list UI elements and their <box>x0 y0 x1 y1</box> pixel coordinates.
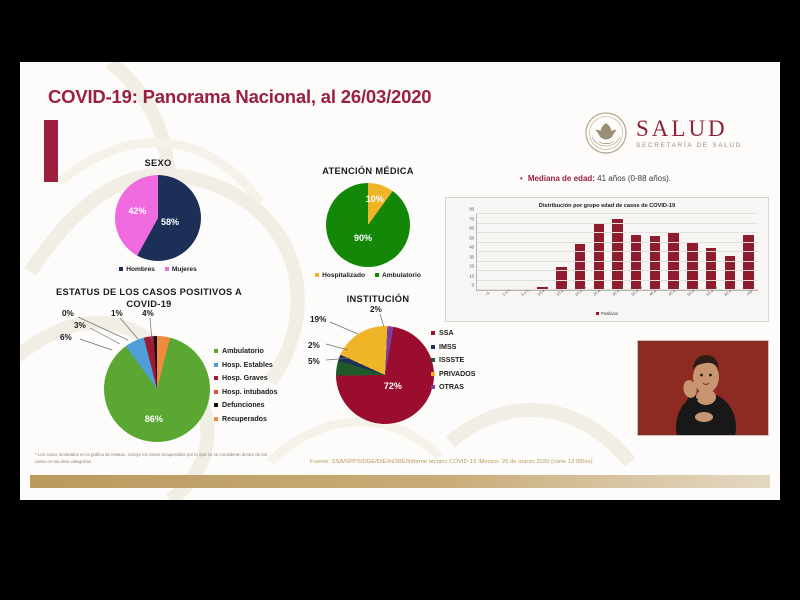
legend-label: Hombres <box>126 266 155 273</box>
legend-item: Ambulatorio <box>375 272 421 279</box>
legend-sexo: HombresMujeres <box>98 266 218 273</box>
legend-swatch <box>214 363 218 367</box>
y-axis-tick: 80 <box>469 207 474 212</box>
legend-item: Hosp. intubados <box>214 388 278 396</box>
legend-item: Mujeres <box>165 266 197 273</box>
legend-label: Hosp. Estables <box>222 361 273 369</box>
legend-label: Hospitalizado <box>322 272 365 279</box>
presentation-slide: COVID-19: Panorama Nacional, al 26/03/20… <box>20 62 780 500</box>
chart-title-institucion: INSTITUCIÓN <box>308 294 448 306</box>
chart-sexo: SEXO 58% 42% HombresMujeres <box>98 158 218 273</box>
x-axis-tick: <1 <box>484 290 491 297</box>
legend-swatch <box>315 273 319 277</box>
source-line: Fuente: SSA/SPPS/DGE/DIE/InDRE/Informe t… <box>310 459 593 465</box>
legend-swatch <box>431 372 435 376</box>
pie-outlabel-graves: 3% <box>74 321 86 330</box>
legend-label-positivos: Positivos <box>601 311 618 316</box>
legend-label: Ambulatorio <box>222 347 264 355</box>
legend-swatch <box>431 358 435 362</box>
legend-label: ISSSTE <box>439 356 464 364</box>
y-axis-tick: 40 <box>469 245 474 250</box>
chart-title-atencion: ATENCIÓN MÉDICA <box>298 166 438 178</box>
bar <box>687 242 697 290</box>
legend-atencion: HospitalizadoAmbulatorio <box>298 272 438 279</box>
pie-label-mujeres: 42% <box>128 206 146 216</box>
legend-swatch <box>214 349 218 353</box>
legend-swatch <box>214 403 218 407</box>
gridline: 80 <box>477 213 758 214</box>
gridline: 10 <box>477 280 758 281</box>
legend-edad: Positivos <box>446 311 768 316</box>
legend-label: Defunciones <box>222 401 265 409</box>
legend-swatch <box>214 376 218 380</box>
y-axis-tick: 30 <box>469 254 474 259</box>
bullet-icon: • <box>520 174 523 183</box>
pie-sexo: 58% 42% <box>115 175 201 261</box>
chart-title-estatus: ESTATUS DE LOS CASOS POSITIVOS A COVID-1… <box>54 287 244 310</box>
legend-label: Ambulatorio <box>382 272 421 279</box>
pie-outlabel-estables: 6% <box>60 333 72 342</box>
gridline: 50 <box>477 242 758 243</box>
legend-label: PRIVADOS <box>439 370 476 378</box>
y-axis-tick: 0 <box>472 283 474 288</box>
pie-outlabel-recuperados: 4% <box>142 309 154 318</box>
y-axis-tick: 20 <box>469 264 474 269</box>
y-axis-tick: 50 <box>469 235 474 240</box>
pie-label-ambulatorio: 90% <box>354 233 372 243</box>
y-axis-tick: 70 <box>469 216 474 221</box>
legend-item: OTRAS <box>431 383 476 391</box>
pie-estatus: 86% <box>104 336 210 442</box>
page-title: COVID-19: Panorama Nacional, al 26/03/20… <box>48 86 431 108</box>
chart-estatus: ESTATUS DE LOS CASOS POSITIVOS A COVID-1… <box>54 287 284 442</box>
legend-item: Defunciones <box>214 401 278 409</box>
legend-item: SSA <box>431 329 476 337</box>
legend-label: SSA <box>439 329 454 337</box>
legend-label: Hosp. Graves <box>222 374 268 382</box>
chart-title-edad: Distribución por grupo edad de casos de … <box>446 203 768 209</box>
y-axis-tick: 10 <box>469 273 474 278</box>
legend-label: Mujeres <box>172 266 197 273</box>
bar-plot-area: <11 a 45 a 910 a 1415 a 1920 a 2425 a 29… <box>476 214 758 291</box>
gridline: 20 <box>477 270 758 271</box>
mexico-eagle-emblem-icon <box>585 112 627 154</box>
median-age-value: 41 años (0-88 años). <box>597 174 671 183</box>
pie-outlabel-defunciones: 1% <box>111 309 123 318</box>
legend-item: Hospitalizado <box>315 272 365 279</box>
median-age-label: Mediana de edad: <box>528 174 595 183</box>
legend-swatch <box>214 390 218 394</box>
legend-item: Ambulatorio <box>214 347 278 355</box>
legend-item: IMSS <box>431 343 476 351</box>
legend-swatch <box>431 345 435 349</box>
pie-outlabel-privados: 19% <box>310 315 326 324</box>
legend-swatch <box>165 267 169 271</box>
chart-title-sexo: SEXO <box>98 158 218 170</box>
pie-label-hombres: 58% <box>161 217 179 227</box>
gridline: 0 <box>477 289 758 290</box>
sign-language-interpreter-video[interactable] <box>637 340 769 436</box>
legend-label: OTRAS <box>439 383 464 391</box>
legend-item: Hosp. Estables <box>214 361 278 369</box>
legend-label: Hosp. intubados <box>222 388 278 396</box>
pie-label-ssa: 72% <box>384 381 402 391</box>
bar <box>743 235 753 290</box>
legend-item: Hosp. Graves <box>214 374 278 382</box>
screen: COVID-19: Panorama Nacional, al 26/03/20… <box>0 0 800 600</box>
logo-subtitle: SECRETARÍA DE SALUD <box>636 143 742 149</box>
salud-logo: SALUD SECRETARÍA DE SALUD <box>585 112 742 154</box>
legend-swatch <box>119 267 123 271</box>
legend-swatch-positivos <box>596 312 599 315</box>
pie-institucion: 72% <box>336 326 434 424</box>
gridline: 30 <box>477 261 758 262</box>
pie-outlabel-otras: 2% <box>370 305 382 314</box>
legend-swatch <box>214 417 218 421</box>
pie-outlabel-issste: 5% <box>308 357 320 366</box>
gridline: 60 <box>477 232 758 233</box>
legend-label: IMSS <box>439 343 456 351</box>
gold-band <box>30 475 770 488</box>
pie-outlabel-intubados: 0% <box>62 309 74 318</box>
legend-swatch <box>375 273 379 277</box>
gridline: 40 <box>477 251 758 252</box>
footnote: * Los casos mostrados en la gráfica de e… <box>35 452 267 465</box>
legend-institucion: SSAIMSSISSSTEPRIVADOSOTRAS <box>431 329 476 391</box>
y-axis-tick: 60 <box>469 226 474 231</box>
accent-bar <box>44 120 58 182</box>
legend-item: PRIVADOS <box>431 370 476 378</box>
median-age-note: • Mediana de edad: 41 años (0-88 años). <box>520 174 671 183</box>
pie-atencion: 10% 90% <box>326 183 410 267</box>
chart-atencion-medica: ATENCIÓN MÉDICA 10% 90% HospitalizadoAmb… <box>298 166 438 279</box>
pie-label-ambulatorio-estatus: 86% <box>145 414 163 424</box>
legend-item: ISSSTE <box>431 356 476 364</box>
legend-swatch <box>431 385 435 389</box>
bar <box>631 235 641 290</box>
legend-item: Recuperados <box>214 415 278 423</box>
legend-label: Recuperados <box>222 415 267 423</box>
legend-item: Hombres <box>119 266 155 273</box>
pie-outlabel-imss: 2% <box>308 341 320 350</box>
gridline: 70 <box>477 223 758 224</box>
legend-swatch <box>431 331 435 335</box>
pie-label-hospitalizado: 10% <box>366 194 384 204</box>
chart-distribucion-edad: Distribución por grupo edad de casos de … <box>445 197 769 322</box>
legend-estatus: AmbulatorioHosp. EstablesHosp. GravesHos… <box>214 347 278 423</box>
bar <box>650 236 660 290</box>
logo-wordmark: SALUD <box>636 117 742 140</box>
